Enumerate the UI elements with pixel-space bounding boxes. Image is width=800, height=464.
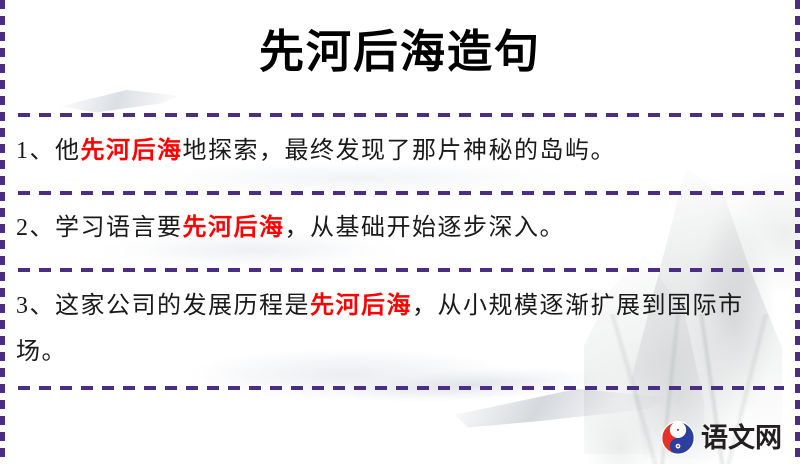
sentence-1: 1、他先河后海地探索，最终发现了那片神秘的岛屿。 [16, 128, 778, 174]
sentence-2-part-2: ，从基础开始逐步深入。 [285, 215, 566, 241]
divider-below-title [18, 113, 784, 117]
sentence-1-idiom: 先河后海 [81, 138, 183, 164]
ink-wash-wing-stroke [455, 388, 665, 434]
document-page: 先河后海造句 1、他先河后海地探索，最终发现了那片神秘的岛屿。 2、学习语言要先… [0, 0, 800, 464]
dashed-border-right [795, 0, 800, 464]
sentence-1-part-0: 他 [55, 138, 81, 164]
sentence-2-part-0: 学习语言要 [55, 215, 183, 241]
sentence-2: 2、学习语言要先河后海，从基础开始逐步深入。 [16, 205, 778, 251]
sentence-2-idiom: 先河后海 [183, 215, 285, 241]
sentence-3-idiom: 先河后海 [310, 293, 412, 319]
site-logo[interactable]: 语文网 [661, 418, 782, 458]
page-title: 先河后海造句 [0, 24, 800, 80]
sentence-2-marker: 2、 [16, 215, 55, 241]
divider-below-sentence-1 [18, 191, 784, 195]
sentence-1-marker: 1、 [16, 138, 55, 164]
divider-below-sentence-2 [18, 268, 784, 272]
sentence-3-marker: 3、 [16, 293, 55, 319]
sentence-1-part-2: 地探索，最终发现了那片神秘的岛屿。 [183, 138, 617, 164]
yuwen-taiji-logo-icon [661, 421, 695, 455]
sentence-3: 3、这家公司的发展历程是先河后海，从小规模逐渐扩展到国际市场。 [16, 283, 778, 375]
site-logo-text: 语文网 [701, 423, 782, 453]
divider-below-sentence-3 [18, 386, 784, 390]
sentence-3-part-0: 这家公司的发展历程是 [55, 293, 310, 319]
dashed-border-left [0, 0, 5, 464]
ink-wash-stroke-top [60, 88, 180, 114]
